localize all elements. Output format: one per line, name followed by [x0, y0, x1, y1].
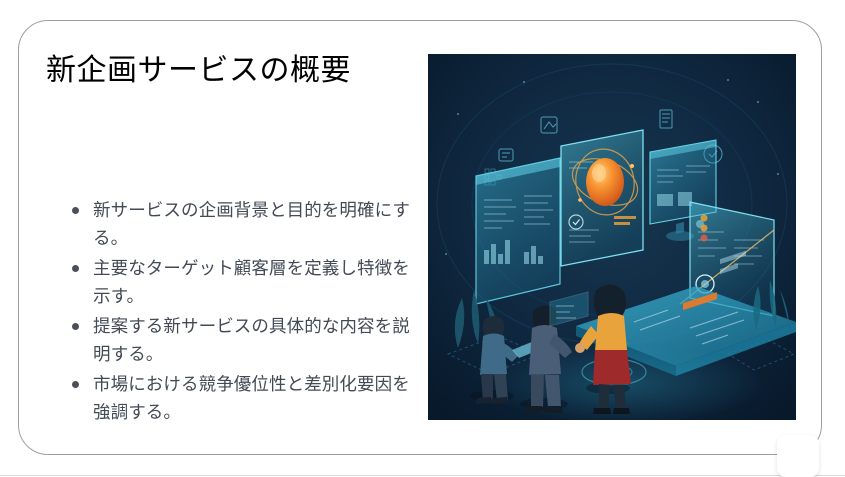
page-title: 新企画サービスの概要	[46, 51, 421, 91]
list-item-label: 新サービスの企画背景と目的を明確にする。	[93, 196, 416, 252]
bottom-divider	[0, 475, 845, 476]
slide-card[interactable]: 新企画サービスの概要 新サービスの企画背景と目的を明確にする。 主要なターゲット…	[18, 20, 822, 455]
list-item-label: 提案する新サービスの具体的な内容を説明する。	[93, 312, 416, 368]
list-item[interactable]: 主要なターゲット顧客層を定義し特徴を示す。	[46, 254, 416, 310]
isometric-workspace-graphic	[428, 54, 796, 420]
list-item-label: 主要なターゲット顧客層を定義し特徴を示す。	[93, 254, 416, 310]
list-item[interactable]: 提案する新サービスの具体的な内容を説明する。	[46, 312, 416, 368]
list-item[interactable]: 市場における競争優位性と差別化要因を強調する。	[46, 370, 416, 426]
list-item-label: 市場における競争優位性と差別化要因を強調する。	[93, 370, 416, 426]
slide-text-column[interactable]: 新企画サービスの概要 新サービスの企画背景と目的を明確にする。 主要なターゲット…	[46, 51, 421, 426]
resize-handle[interactable]	[777, 435, 819, 477]
bullet-list[interactable]: 新サービスの企画背景と目的を明確にする。 主要なターゲット顧客層を定義し特徴を示…	[46, 196, 416, 428]
bullet-dot-icon	[72, 381, 79, 388]
bullet-dot-icon	[72, 323, 79, 330]
bullet-dot-icon	[72, 265, 79, 272]
illustration-image[interactable]	[428, 54, 796, 420]
bullet-dot-icon	[72, 207, 79, 214]
list-item[interactable]: 新サービスの企画背景と目的を明確にする。	[46, 196, 416, 252]
